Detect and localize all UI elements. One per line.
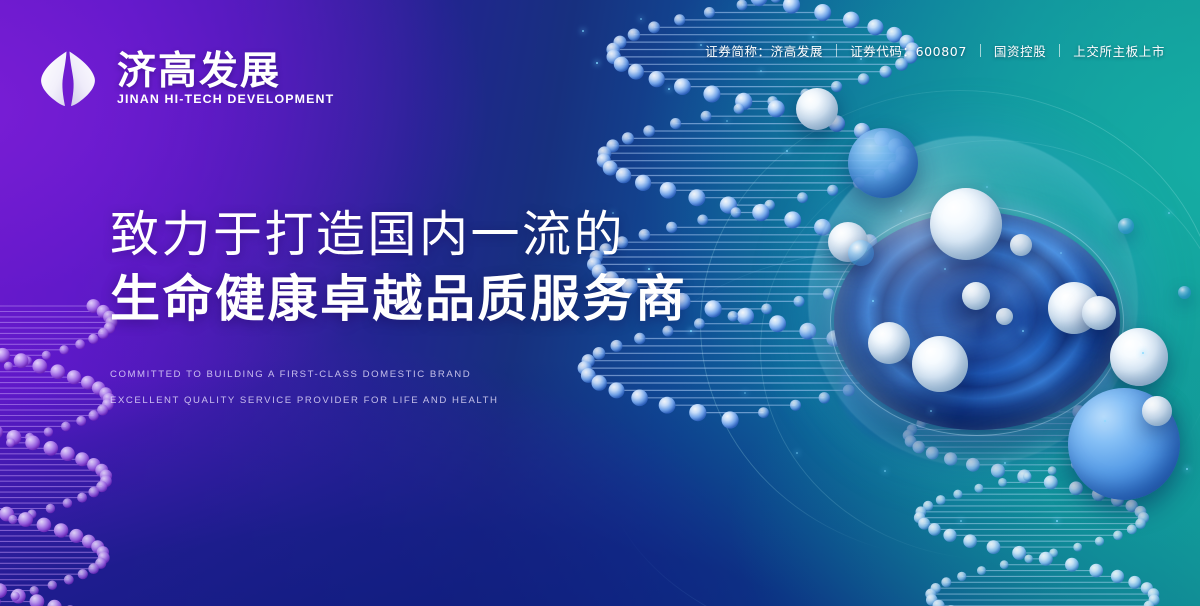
subtitle-line-2: EXCELLENT QUALITY SERVICE PROVIDER FOR L… [110,396,498,406]
stock-short-name: 证券简称：济高发展 [692,41,836,60]
stock-code: 证券代码：600807 [837,41,980,60]
logo-text-block: 济高发展 JINAN HI-TECH DEVELOPMENT [117,52,334,105]
company-logo[interactable]: 济高发展 JINAN HI-TECH DEVELOPMENT [33,44,334,114]
subtitle-line-1: COMMITTED TO BUILDING A FIRST-CLASS DOME… [110,370,498,380]
logo-name-en: JINAN HI-TECH DEVELOPMENT [117,93,334,105]
headline-block: 致力于打造国内一流的 生命健康卓越品质服务商 [110,206,688,329]
headline-line-2: 生命健康卓越品质服务商 [110,270,688,329]
logo-diamond-leaf-icon [33,44,103,114]
subtitle-block: COMMITTED TO BUILDING A FIRST-CLASS DOME… [110,370,498,405]
headline-line-1: 致力于打造国内一流的 [110,206,688,264]
listing-board: 上交所主板上市 [1060,41,1178,60]
ownership-badge: 国资控股 [981,41,1059,60]
logo-name-cn: 济高发展 [117,52,334,91]
hero-banner: 证券简称：济高发展 证券代码：600807 国资控股 上交所主板上市 [0,0,1200,606]
stock-info-bar: 证券简称：济高发展 证券代码：600807 国资控股 上交所主板上市 [692,41,1178,60]
